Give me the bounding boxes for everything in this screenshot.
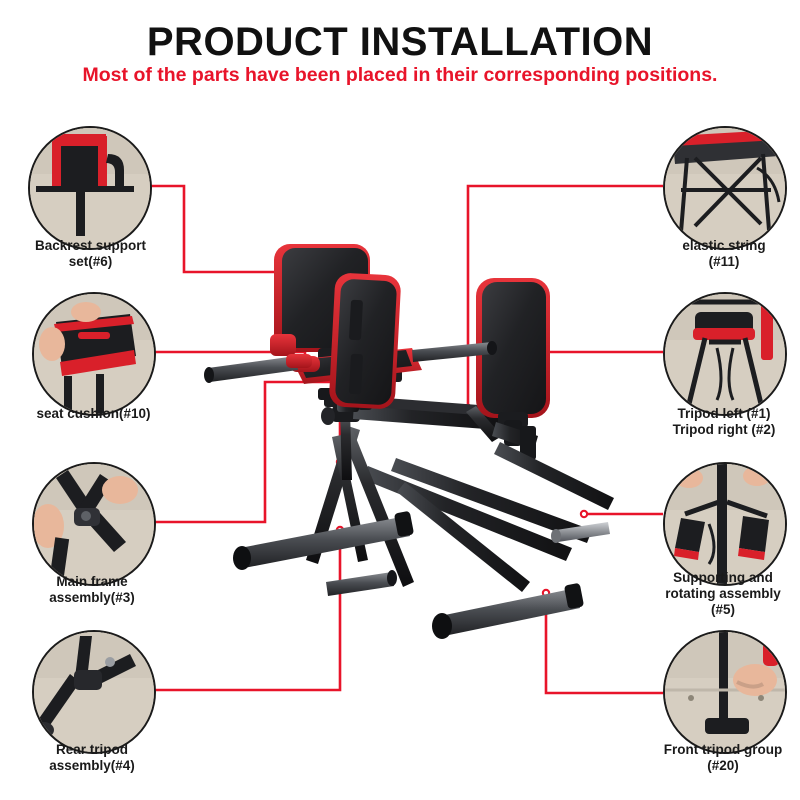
right-support-arm [492,422,614,510]
callout-photo-supporting-rotating-assembly[interactable] [663,462,787,586]
callout-photo-backrest-support-set[interactable] [28,126,152,250]
elastic-string-photo [665,128,785,248]
callout-label-backrest-support-set: Backrest support set(#6) [8,238,173,270]
callout-label-main-frame-assembly: Main frame assembly(#3) [12,574,172,606]
callout-photo-tripod-left-right[interactable] [663,292,787,416]
callout-photo-front-tripod-group[interactable] [663,630,787,754]
backrest-support-bracket-photo [30,128,150,248]
tripod-legs [306,406,414,587]
product-illustration [200,230,620,660]
callout-label-seat-cushion: seat cushion(#10) [6,406,181,422]
rear-tripod-assembly-photo [34,632,154,752]
callout-photo-seat-cushion[interactable] [32,292,156,416]
callout-label-tripod-left-right: Tripod left (#1) Tripod right (#2) [634,406,800,438]
callout-photo-rear-tripod-assembly[interactable] [32,630,156,754]
callout-label-supporting-rotating-assembly: Supporting and rotating assembly (#5) [630,570,800,618]
callout-label-front-tripod-group: Front tripod group (#20) [628,742,800,774]
callout-photo-main-frame-assembly[interactable] [32,462,156,586]
callout-photo-elastic-string[interactable] [663,126,787,250]
tripod-left-right-photo [665,294,785,414]
seat-cushion-photo [34,294,154,414]
callout-label-rear-tripod-assembly: Rear tripod assembly(#4) [12,742,172,774]
front-tripod-group-photo [665,632,785,752]
chest-pad [329,272,402,409]
callout-label-elastic-string: elastic string (#11) [640,238,800,270]
installation-diagram: PRODUCT INSTALLATION Most of the parts h… [0,0,800,800]
supporting-rotating-assembly-photo [665,464,785,584]
main-frame-assembly-photo [34,464,154,584]
